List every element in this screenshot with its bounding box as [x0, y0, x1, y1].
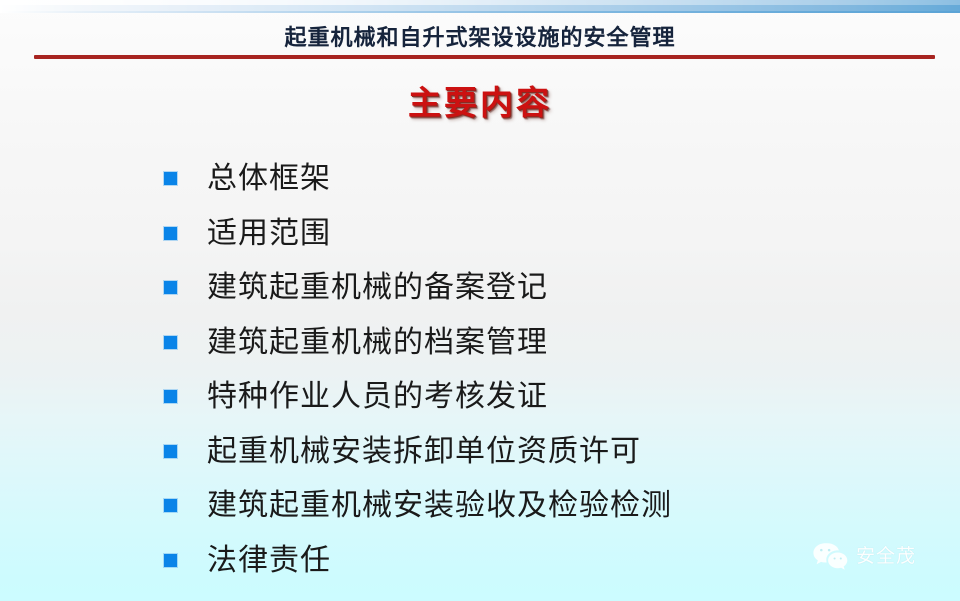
list-item[interactable]: 起重机械安装拆卸单位资质许可 [163, 425, 923, 480]
list-item-label: 适用范围 [207, 217, 331, 251]
list-item-label: 起重机械安装拆卸单位资质许可 [207, 435, 641, 469]
list-item[interactable]: 建筑起重机械的备案登记 [163, 261, 923, 316]
header-divider-rule [34, 55, 935, 59]
square-bullet-icon [164, 281, 177, 294]
wechat-icon [812, 541, 848, 571]
list-item-label: 特种作业人员的考核发证 [207, 380, 548, 414]
square-bullet-icon [164, 172, 177, 185]
presentation-slide: 起重机械和自升式架设设施的安全管理 主要内容 总体框架 适用范围 建筑起重机械的… [0, 0, 960, 601]
slide-header-title: 起重机械和自升式架设设施的安全管理 [0, 24, 960, 52]
top-banner [0, 0, 960, 13]
square-bullet-icon [164, 336, 177, 349]
list-item[interactable]: 特种作业人员的考核发证 [163, 370, 923, 425]
list-item-label: 建筑起重机械的备案登记 [207, 271, 548, 305]
list-item[interactable]: 总体框架 [163, 152, 923, 207]
square-bullet-icon [164, 554, 177, 567]
list-item[interactable]: 法律责任 [163, 534, 923, 589]
watermark-label: 安全茂 [856, 545, 916, 567]
square-bullet-icon [164, 445, 177, 458]
list-item[interactable]: 建筑起重机械的档案管理 [163, 316, 923, 371]
list-item[interactable]: 建筑起重机械安装验收及检验检测 [163, 479, 923, 534]
square-bullet-icon [164, 390, 177, 403]
square-bullet-icon [164, 499, 177, 512]
watermark: 安全茂 [812, 541, 916, 571]
top-banner-edge [0, 11, 960, 13]
list-item-label: 建筑起重机械安装验收及检验检测 [207, 489, 672, 523]
square-bullet-icon [164, 227, 177, 240]
list-item[interactable]: 适用范围 [163, 207, 923, 262]
content-outline-list: 总体框架 适用范围 建筑起重机械的备案登记 建筑起重机械的档案管理 特种作业人员… [163, 152, 923, 588]
list-item-label: 建筑起重机械的档案管理 [207, 326, 548, 360]
section-heading: 主要内容 [0, 84, 960, 124]
list-item-label: 总体框架 [207, 162, 331, 196]
top-banner-sheen [0, 0, 960, 5]
list-item-label: 法律责任 [207, 544, 331, 578]
